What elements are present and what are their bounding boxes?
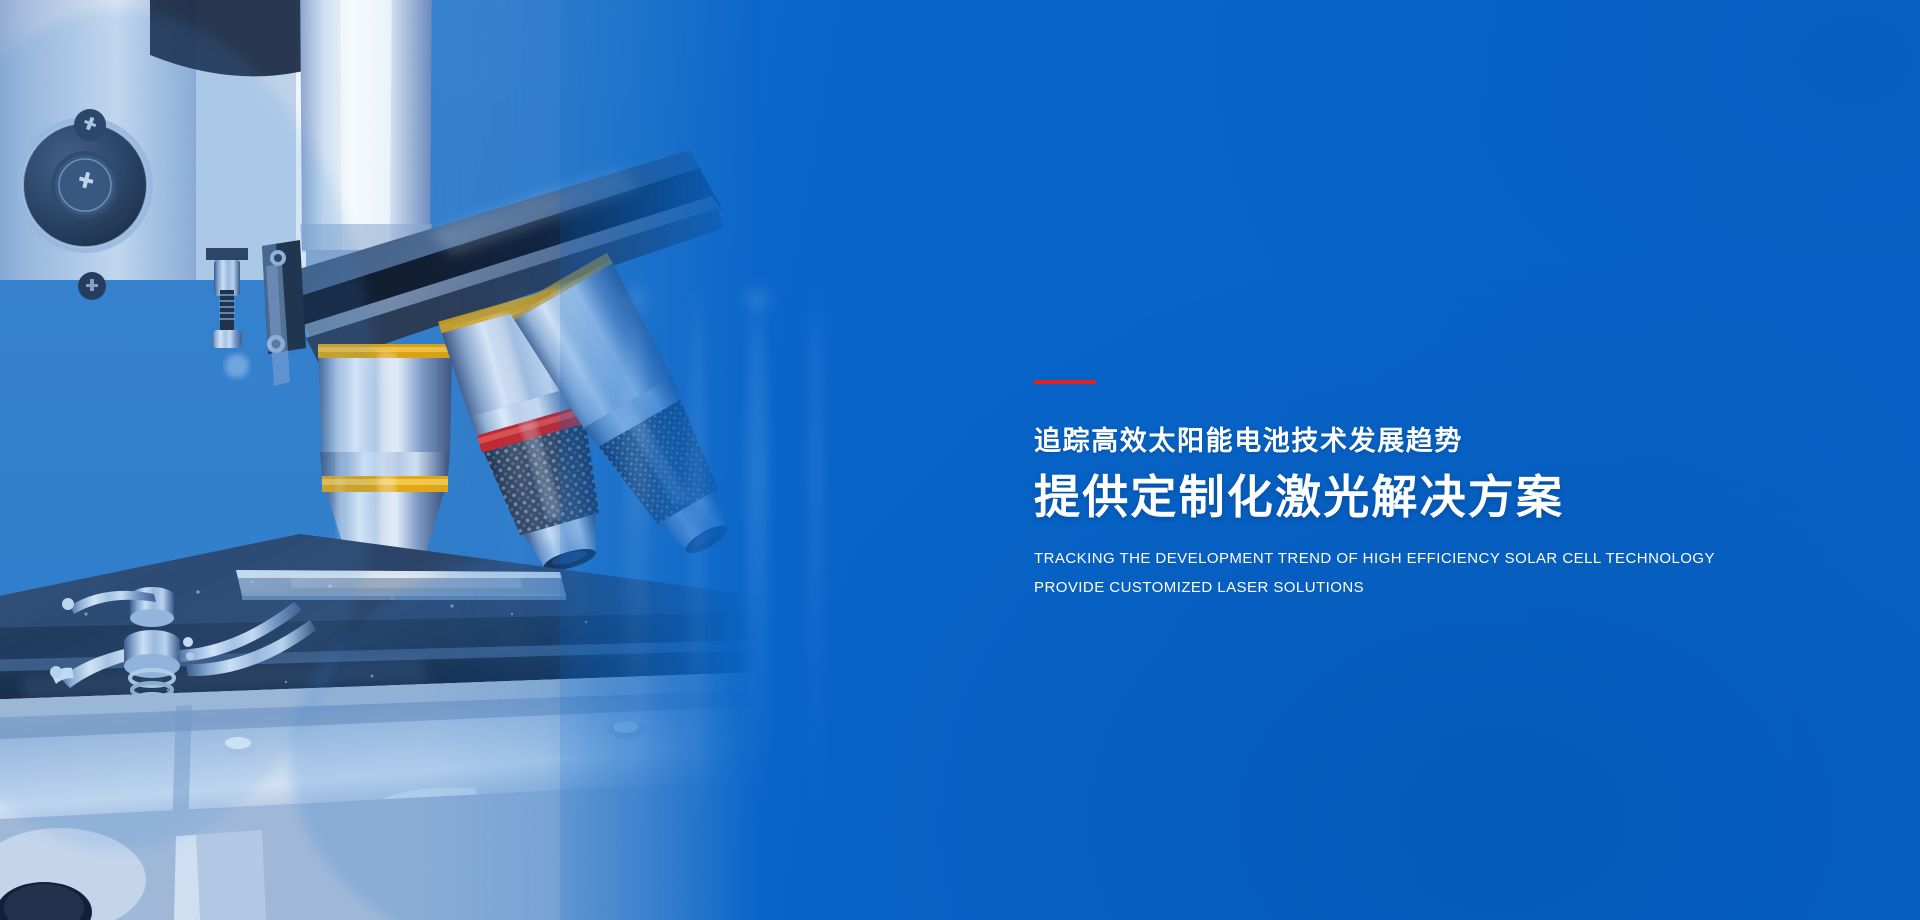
hero-subcopy-line-2: PROVIDE CUSTOMIZED LASER SOLUTIONS — [1034, 580, 1874, 595]
hero-copy: 追踪高效太阳能电池技术发展趋势 提供定制化激光解决方案 TRACKING THE… — [1034, 380, 1874, 595]
microscope-photo — [0, 0, 760, 920]
hero-headline: 提供定制化激光解决方案 — [1034, 472, 1874, 524]
hero-subcopy-line-1: TRACKING THE DEVELOPMENT TREND OF HIGH E… — [1034, 551, 1874, 566]
red-accent-rule — [1034, 380, 1096, 384]
hero-subheadline: 追踪高效太阳能电池技术发展趋势 — [1034, 426, 1874, 458]
hero-banner: 追踪高效太阳能电池技术发展趋势 提供定制化激光解决方案 TRACKING THE… — [0, 0, 1920, 920]
